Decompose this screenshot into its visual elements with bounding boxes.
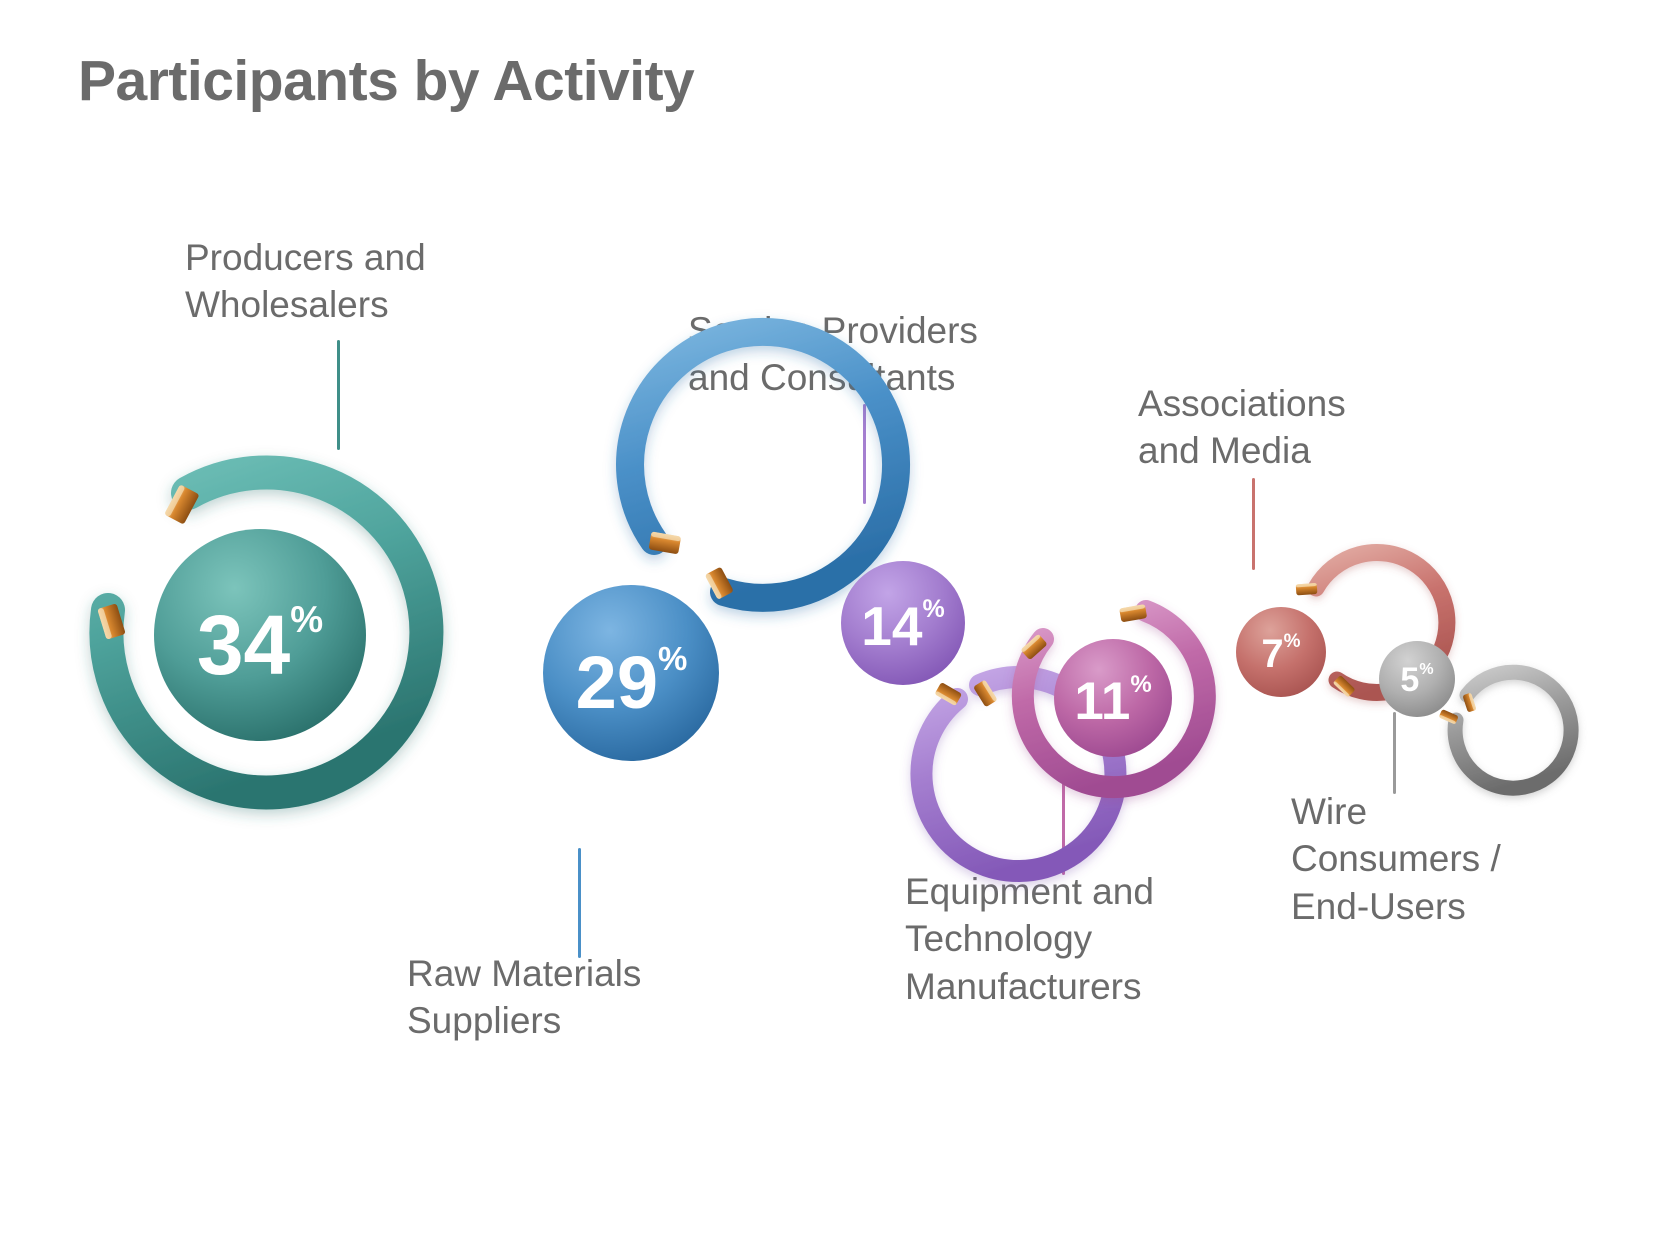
ring-equipment-technology-manufacturers[interactable]: 11 % (1000, 585, 1226, 811)
page-title: Participants by Activity (78, 48, 694, 114)
label-producers-wholesalers: Producers and Wholesalers (185, 234, 426, 329)
core-sphere (154, 529, 366, 741)
leader-line-raw-materials (578, 848, 581, 958)
ring-raw-materials-suppliers[interactable]: 29 % (466, 508, 796, 838)
label-equipment-technology-manufacturers: Equipment and Technology Manufacturers (905, 868, 1154, 1010)
leader-line-service-providers (863, 404, 866, 504)
ring-associations-media[interactable]: 7 % (1195, 566, 1367, 738)
core-sphere (841, 561, 965, 685)
core-sphere (1379, 641, 1455, 717)
label-raw-materials-suppliers: Raw Materials Suppliers (407, 950, 641, 1045)
label-associations-media: Associations and Media (1138, 380, 1346, 475)
core-sphere (543, 585, 719, 761)
ring-arc-gray (1455, 672, 1571, 788)
infographic-canvas: Participants by Activity Producers and W… (0, 0, 1667, 1250)
ring-producers-wholesalers[interactable]: 34 % (60, 435, 460, 835)
label-wire-consumers-end-users: Wire Consumers / End-Users (1291, 788, 1501, 930)
copper-tip-icon (1296, 583, 1318, 595)
leader-line-associations (1252, 478, 1255, 570)
ring-wire-consumers-end-users[interactable]: 5 % (1345, 607, 1489, 751)
core-sphere (1054, 639, 1172, 757)
core-sphere (1236, 607, 1326, 697)
ring-service-providers-consultants[interactable]: 14 % (783, 503, 1023, 743)
leader-line-producers (337, 340, 340, 450)
